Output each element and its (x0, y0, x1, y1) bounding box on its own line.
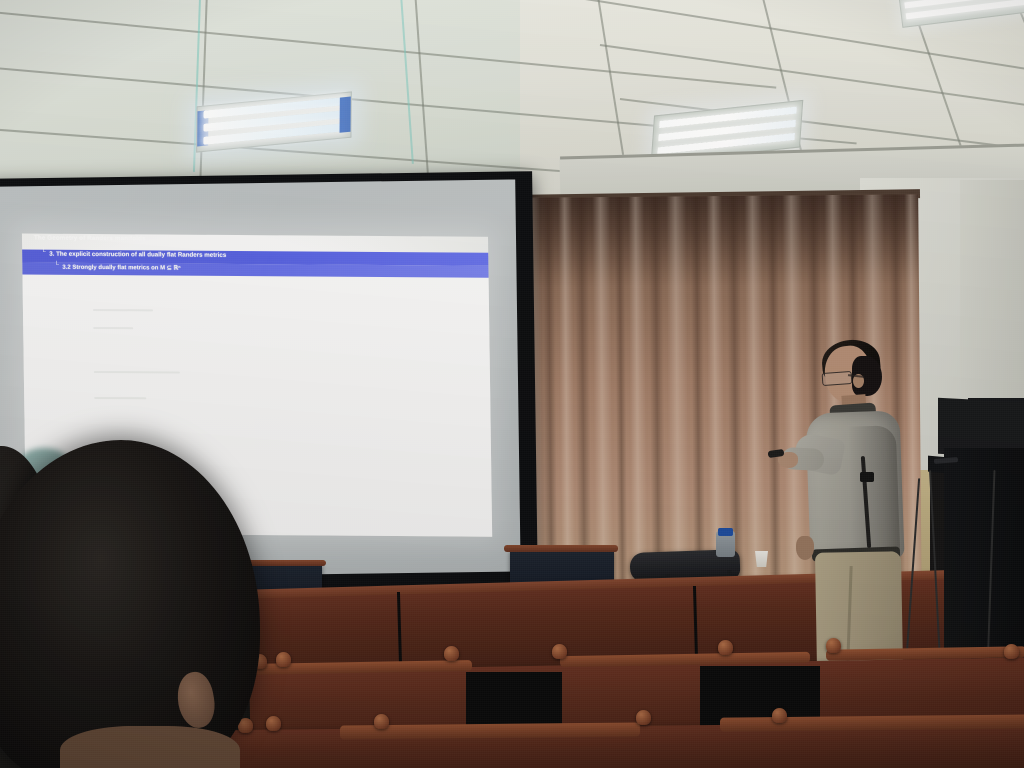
bench-finial (374, 714, 389, 729)
slide-section-label: 3. The explicit construction of all dual… (49, 251, 226, 259)
bottle-cap (718, 528, 733, 536)
lecture-hall-photo: The Geometry of Randers manifolds └ 3. T… (0, 0, 1024, 768)
bench-finial (266, 716, 281, 731)
chair-frame (242, 560, 326, 566)
slide-tree-elbow-subsection: └ (54, 263, 59, 270)
paper-cup (755, 551, 768, 567)
bench-finial (1004, 644, 1019, 659)
bench-finial (826, 638, 841, 653)
lapel-microphone-pack (860, 472, 874, 482)
bench-finial (636, 710, 651, 725)
bench-finial (276, 652, 291, 667)
slide-tree-elbow-section: └ (41, 250, 46, 257)
bench-finial (718, 640, 733, 655)
attendee-neck (60, 726, 240, 768)
chair-frame (504, 545, 618, 552)
presenter-resting-hand (796, 536, 814, 560)
jacket-shading (848, 425, 901, 559)
bench-finial (552, 644, 567, 659)
lectern-body (944, 448, 1024, 648)
bench-finial (444, 646, 459, 661)
slide-subsection-label: 3.2 Strongly dually flat metrics on M ⊆ … (62, 264, 180, 272)
bench-finial (772, 708, 787, 723)
slide-title: The Geometry of Randers manifolds (34, 235, 146, 243)
